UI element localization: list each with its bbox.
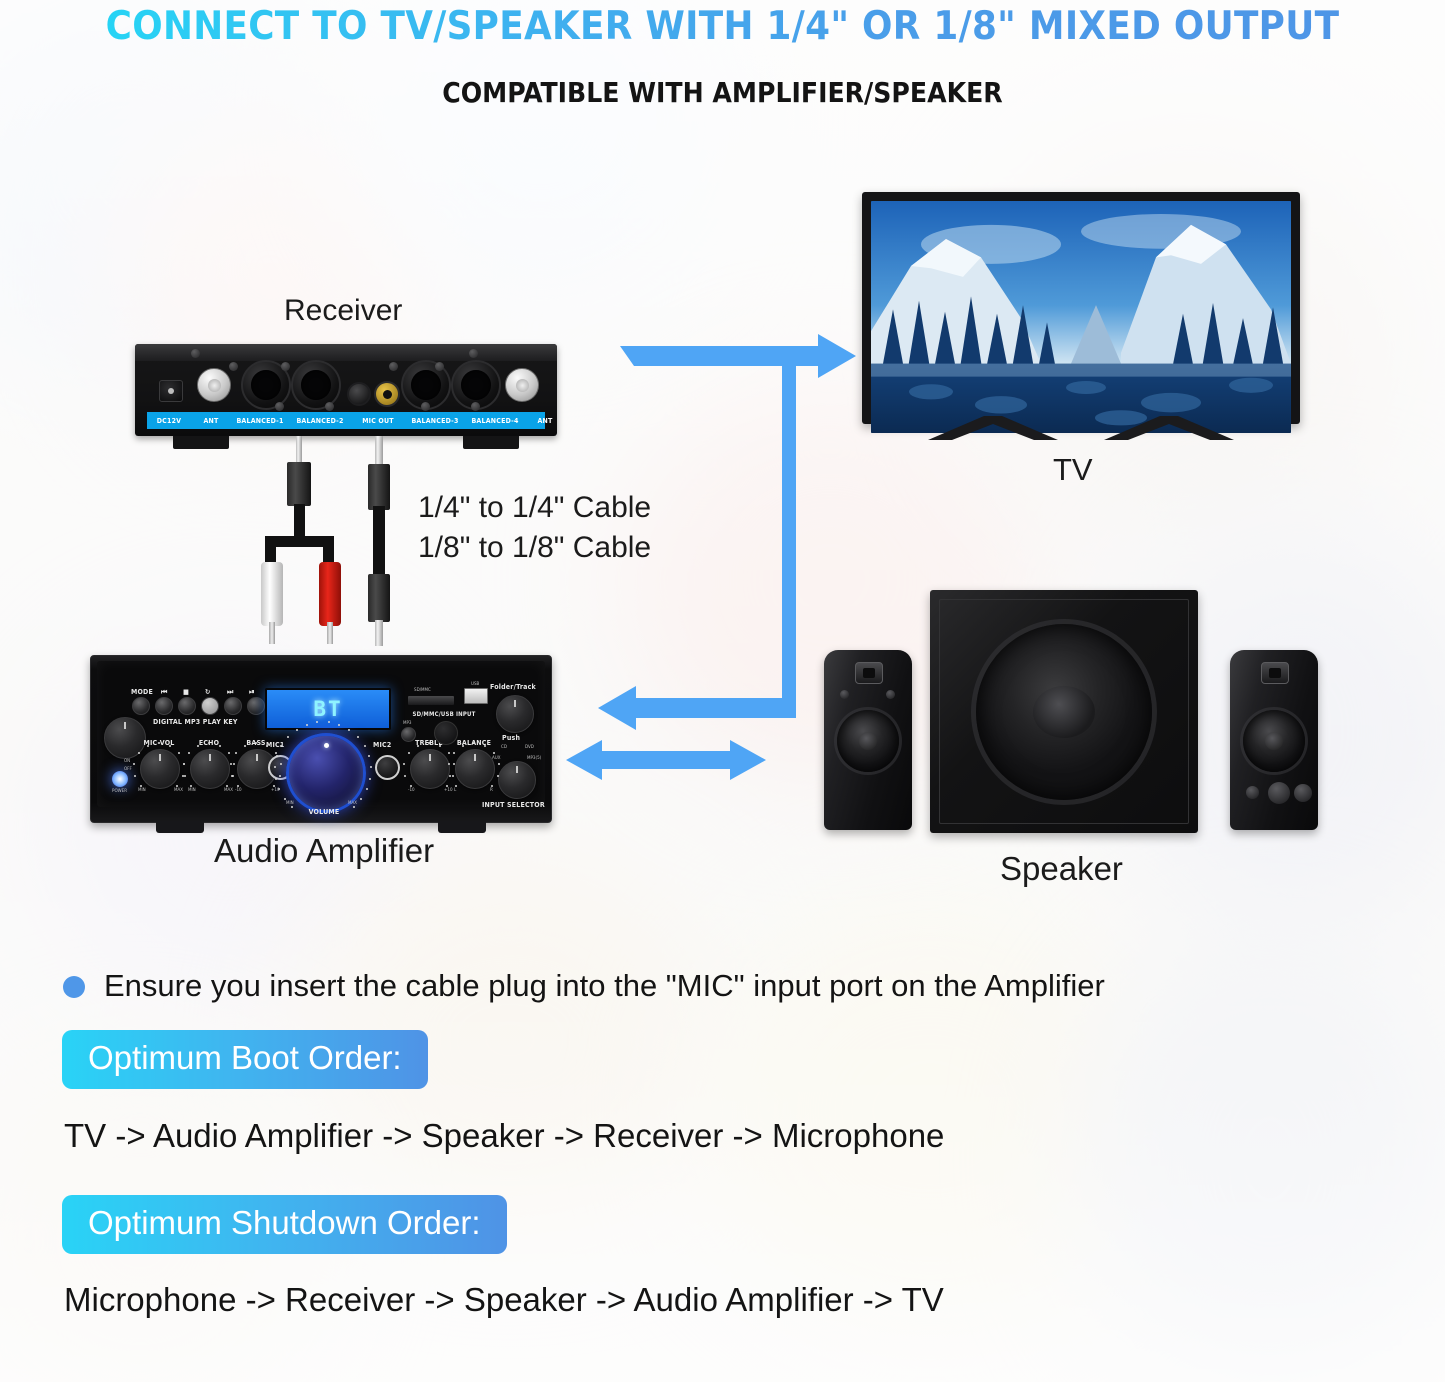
arrow-amplifier-to-speaker-bidirectional (566, 738, 766, 782)
amplifier-knob-treble[interactable] (410, 749, 450, 789)
amplifier-bass-min: -10 (235, 788, 242, 793)
amplifier-mp3-label: MP3 (403, 721, 412, 726)
cable-wire-right-join (303, 536, 334, 547)
audio-amplifier-device: ON OFF POWER MODE ⏮ ■ ↻ ⏭ ⏯ DIGITAL MP3 … (90, 655, 552, 823)
receiver-mic-out-jack-black (347, 382, 371, 406)
amplifier-knob-micvol[interactable] (140, 749, 180, 789)
amplifier-treble-min: -10 (408, 788, 415, 793)
amplifier-button-stop[interactable] (178, 697, 196, 715)
speaker-caption: Speaker (1000, 850, 1123, 888)
amplifier-button-prev[interactable] (155, 697, 173, 715)
amplifier-echo-min: MIN (188, 788, 196, 793)
rca-plug-white (261, 562, 283, 626)
amplifier-mode-icon-prev: ⏮ (161, 688, 168, 697)
receiver-device: DC12V ANT BALANCED-1 BALANCED-2 MIC OUT … (135, 344, 557, 436)
amplifier-folder-track-label: Folder/Track (490, 683, 536, 691)
tip-bullet-icon (63, 976, 85, 998)
amplifier-echo-max: MAX (224, 788, 233, 793)
amplifier-power-led (112, 771, 128, 787)
amplifier-volume-label: VOLUME (300, 808, 348, 816)
receiver-label-ant-left: ANT (191, 417, 231, 425)
amplifier-selector-option-mp3: MP3(5) (527, 756, 541, 761)
speaker-satellite-right (1230, 650, 1318, 830)
receiver-label-balanced-4: BALANCED-4 (465, 417, 525, 425)
boot-order-badge: Optimum Boot Order: (62, 1030, 428, 1089)
receiver-label-ant-right: ANT (525, 417, 565, 425)
amplifier-knob-balance[interactable] (455, 749, 495, 789)
cable-quarter-body (368, 464, 390, 510)
cable-quarter-body-lower (368, 574, 390, 622)
receiver-ant-left (197, 368, 231, 402)
cable-quarter-tip (375, 436, 383, 466)
speaker-right-volume-dial[interactable] (1268, 782, 1290, 804)
page-subtitle: COMPATIBLE WITH AMPLIFIER/SPEAKER (0, 76, 1445, 109)
amplifier-knob-echo[interactable] (190, 749, 230, 789)
receiver-port-label-strip: DC12V ANT BALANCED-1 BALANCED-2 MIC OUT … (147, 412, 545, 429)
receiver-caption: Receiver (284, 294, 402, 328)
tv-caption: TV (1053, 452, 1093, 488)
speaker-right-driver (1243, 710, 1305, 772)
amplifier-push-label: Push (502, 734, 520, 742)
amplifier-power-on-label: ON (124, 759, 130, 764)
amplifier-button-repeat[interactable] (201, 697, 219, 715)
amplifier-sd-slot-label: SD/MMC (414, 688, 431, 693)
amplifier-selector-option-aux: AUX (492, 756, 501, 761)
amplifier-mode-icon-stop: ■ (183, 688, 189, 696)
cable-35mm-body (287, 462, 311, 506)
amplifier-usb-port[interactable] (464, 688, 488, 704)
cable-assembly (255, 436, 405, 646)
cable-label-quarter: 1/4" to 1/4" Cable (418, 491, 651, 525)
tip-text: Ensure you insert the cable plug into th… (104, 968, 1105, 1004)
rca-red-pin (327, 622, 333, 644)
amplifier-sd-slot[interactable] (408, 696, 454, 705)
amplifier-lcd-display: BT (265, 688, 391, 730)
cable-wire-quarter (373, 506, 385, 576)
amplifier-button-next[interactable] (224, 697, 242, 715)
cable-35mm-tip (296, 436, 302, 464)
amplifier-mic2-label: MIC2 (373, 741, 391, 749)
speaker-right-badge (1261, 662, 1289, 684)
amplifier-balance-max: R (490, 788, 493, 793)
amplifier-micvol-max: MAX (174, 788, 183, 793)
speaker-right-bass-dial[interactable] (1294, 784, 1312, 802)
amplifier-input-selector-knob[interactable] (498, 761, 536, 799)
amplifier-selector-option-dvd: DVD (525, 745, 534, 750)
amplifier-play-key-label: DIGITAL MP3 PLAY KEY (153, 718, 238, 726)
cable-label-eighth: 1/8" to 1/8" Cable (418, 531, 651, 565)
speaker-left-driver (837, 710, 899, 772)
speaker-left-dial (840, 690, 849, 699)
amplifier-balance-min: L (454, 788, 456, 793)
amplifier-mp3-button[interactable] (401, 727, 416, 742)
amplifier-power-label: POWER (112, 789, 127, 794)
amplifier-micvol-min: MIN (138, 788, 146, 793)
receiver-mic-out-jack-gold (374, 381, 400, 407)
tv-stand-left (918, 416, 1068, 442)
amplifier-caption: Audio Amplifier (214, 832, 434, 870)
amplifier-mode-icon-next: ⏭ (227, 688, 234, 697)
receiver-label-mic-out: MIC OUT (351, 417, 405, 425)
speaker-left-badge (855, 662, 883, 684)
receiver-dc-jack (159, 380, 183, 402)
amplifier-treble-max: +10 (444, 788, 453, 793)
receiver-label-balanced-3: BALANCED-3 (405, 417, 465, 425)
receiver-label-balanced-2: BALANCED-2 (289, 417, 351, 425)
speaker-subwoofer (930, 590, 1198, 833)
amplifier-mode-icon-play: ⏯ (249, 688, 255, 697)
amplifier-selector-option-cd: CD (501, 745, 507, 750)
shutdown-order-text: Microphone -> Receiver -> Speaker -> Aud… (64, 1281, 944, 1319)
cable-quarter-tip-lower (375, 620, 383, 646)
page-title: CONNECT TO TV/SPEAKER WITH 1/4" OR 1/8" … (0, 4, 1445, 49)
speaker-subwoofer-cone (976, 624, 1152, 800)
speaker-left-dial-2 (886, 690, 895, 699)
receiver-ant-right (505, 368, 539, 402)
amplifier-sd-input-label: SD/MMC/USB INPUT (398, 711, 490, 718)
rca-white-pin (269, 622, 275, 644)
amplifier-aux-jack[interactable] (434, 721, 458, 745)
amplifier-input-selector-label: INPUT SELECTOR (482, 801, 545, 809)
receiver-label-dc12v: DC12V (147, 417, 191, 425)
speaker-right-power-dial[interactable] (1246, 786, 1259, 799)
amplifier-button-mode[interactable] (132, 697, 150, 715)
amplifier-mode-icon-repeat: ↻ (205, 688, 210, 696)
amplifier-folder-track-knob[interactable] (496, 695, 534, 733)
rca-plug-red (319, 562, 341, 626)
tv-device (862, 192, 1300, 442)
receiver-label-balanced-1: BALANCED-1 (231, 417, 289, 425)
amplifier-usb-label: USB (471, 682, 479, 687)
boot-order-text: TV -> Audio Amplifier -> Speaker -> Rece… (64, 1117, 944, 1155)
speaker-satellite-left (824, 650, 912, 830)
amplifier-power-off-label: OFF (124, 767, 132, 772)
amplifier-mode-label: MODE (131, 688, 153, 696)
tv-stand-right (1094, 416, 1244, 442)
receiver-balanced-2 (291, 360, 341, 410)
amplifier-lcd-value: BT (313, 697, 342, 721)
amplifier-button-play[interactable] (247, 697, 265, 715)
amplifier-mic2-jack[interactable] (375, 755, 400, 780)
shutdown-order-badge: Optimum Shutdown Order: (62, 1195, 507, 1254)
speaker-system (800, 588, 1345, 838)
tv-screen (871, 201, 1291, 433)
